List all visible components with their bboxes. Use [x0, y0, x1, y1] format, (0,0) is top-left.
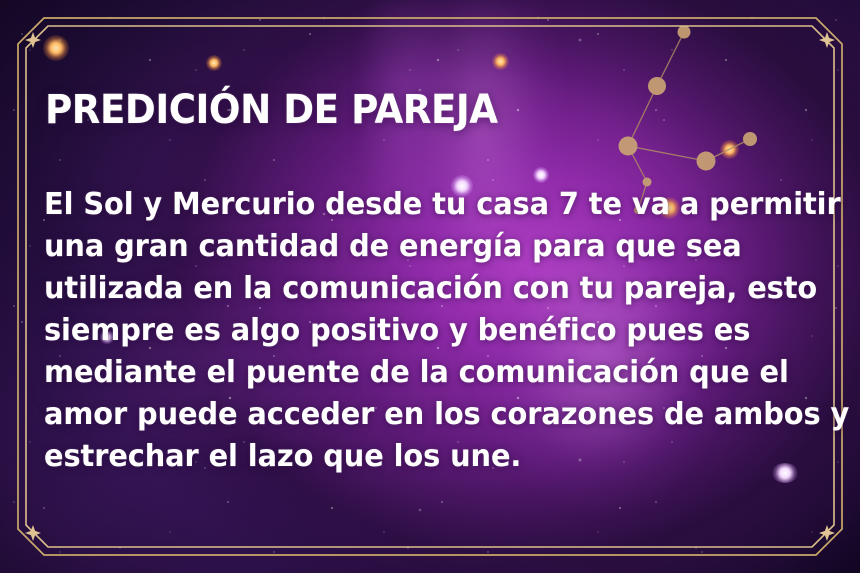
page-title: PREDICIÓN DE PAREJA — [45, 90, 762, 130]
prediction-line: estrechar el lazo que los une. — [44, 436, 774, 478]
card-content: PREDICIÓN DE PAREJA El Sol y Mercurio de… — [44, 0, 816, 573]
prediction-line: amor puede acceder en los corazones de a… — [44, 394, 774, 436]
prediction-line: siempre es algo positivo y benéfico pues… — [44, 310, 774, 352]
prediction-line: una gran cantidad de energía para que se… — [44, 226, 774, 268]
prediction-line: El Sol y Mercurio desde tu casa 7 te va … — [44, 184, 774, 226]
prediction-body: El Sol y Mercurio desde tu casa 7 te va … — [44, 184, 816, 478]
prediction-card: PREDICIÓN DE PAREJA El Sol y Mercurio de… — [0, 0, 860, 573]
prediction-line: utilizada en la comunicación con tu pare… — [44, 268, 774, 310]
prediction-line: mediante el puente de la comunicación qu… — [44, 352, 774, 394]
